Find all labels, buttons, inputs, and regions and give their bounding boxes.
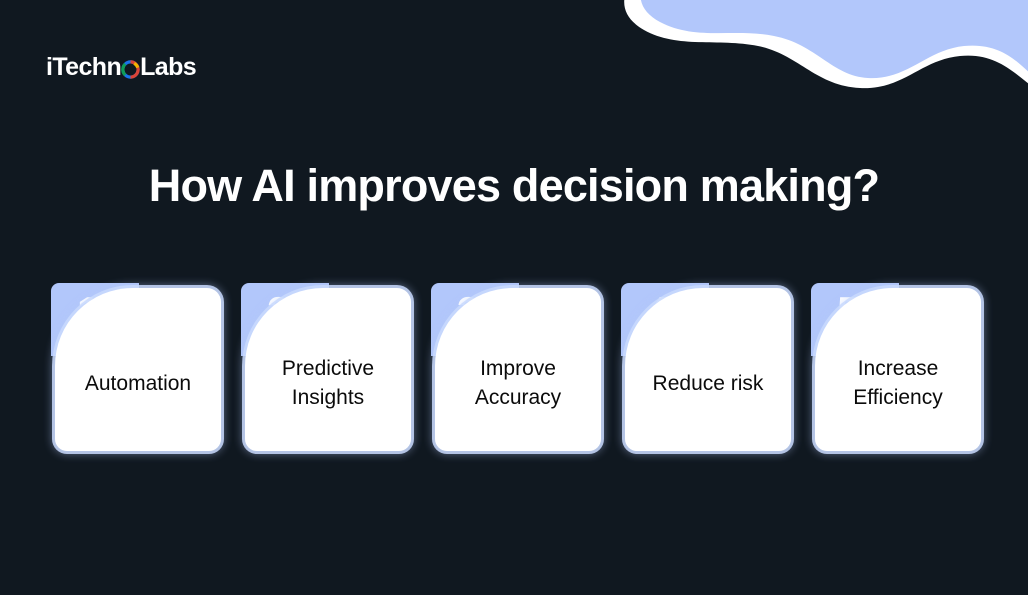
card-4-label: Reduce risk	[643, 369, 774, 398]
logo-text-after: Labs	[140, 52, 196, 82]
card-3[interactable]: 3 Improve Accuracy	[431, 283, 601, 451]
card-3-body: Improve Accuracy	[435, 288, 601, 451]
card-3-label: Improve Accuracy	[465, 354, 571, 412]
card-5-body: Increase Efficiency	[815, 288, 981, 451]
card-5[interactable]: 5 Increase Efficiency	[811, 283, 981, 451]
card-5-label: Increase Efficiency	[843, 354, 953, 412]
logo-text-before: iTechn	[46, 52, 121, 82]
card-1[interactable]: 1 Automation	[51, 283, 221, 451]
card-1-body: Automation	[55, 288, 221, 451]
top-right-wave-blob	[608, 0, 1028, 115]
card-1-label: Automation	[75, 369, 201, 398]
card-4[interactable]: 4 Reduce risk	[621, 283, 791, 451]
card-2-label: Predictive Insights	[272, 354, 384, 412]
page-title: How AI improves decision making?	[0, 155, 1028, 217]
brand-logo: iTechn Labs	[46, 52, 196, 82]
blob-fill	[641, 0, 1028, 82]
card-4-body: Reduce risk	[625, 288, 791, 451]
card-2[interactable]: 2 Predictive Insights	[241, 283, 411, 451]
cards-row: 1 Automation 2 Predictive Insights 3 Imp…	[51, 283, 1011, 458]
multicolor-ring-icon	[121, 60, 140, 79]
card-2-body: Predictive Insights	[245, 288, 411, 451]
slide-canvas: iTechn Labs How AI improves decision mak…	[0, 0, 1028, 595]
blob-outline	[624, 0, 1028, 92]
